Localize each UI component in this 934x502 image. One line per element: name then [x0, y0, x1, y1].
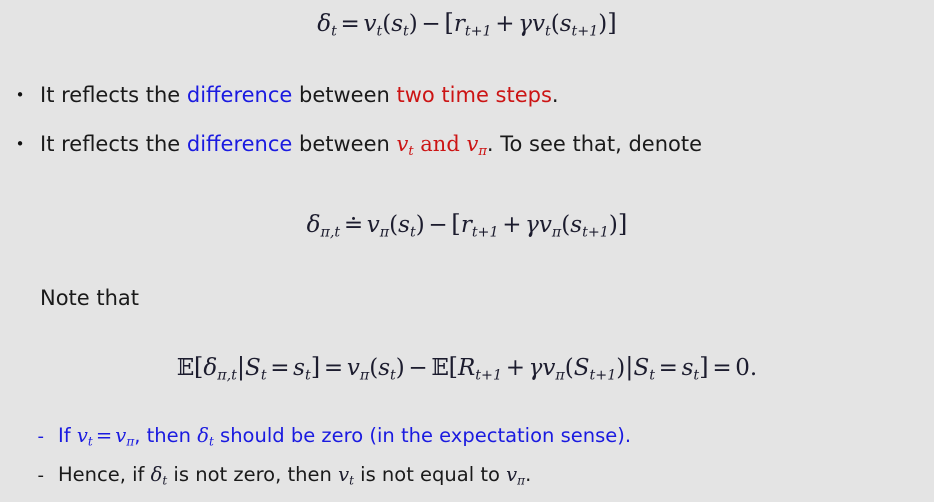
- sub-bullet-2-post: .: [525, 463, 531, 486]
- bullet-marker-icon: •: [0, 88, 40, 103]
- equation-expectation-body: 𝔼[δπ,t|St=st]=vπ(st)−𝔼[Rt+1+γvπ(St+1)|St…: [177, 355, 757, 381]
- bullet-list: • It reflects the difference between two…: [0, 82, 934, 183]
- equation-expectation: 𝔼[δπ,t|St=st]=vπ(st)−𝔼[Rt+1+γvπ(St+1)|St…: [0, 352, 934, 383]
- sub-bullet-1-pre: If: [58, 424, 77, 447]
- sub-bullet-2-text: Hence, if δt is not zero, then vt is not…: [58, 463, 934, 489]
- sub-bullet-list: - If vt=vπ, then δt should be zero (in t…: [0, 424, 934, 502]
- bullet-1-seg-two-time-steps: two time steps: [396, 83, 551, 107]
- bullet-2-seg-4: . To see that, denote: [487, 132, 702, 156]
- bullet-2-text: It reflects the difference between vt an…: [40, 131, 934, 161]
- sub-bullet-2-math-delta: δt: [151, 463, 168, 486]
- equation-td-error: δt=vt(st)−[rt+1+γvt(st+1)]: [0, 8, 934, 39]
- sub-bullet-2-mid2: is not equal to: [354, 463, 506, 486]
- blackboard-E-icon-2: 𝔼: [431, 355, 448, 381]
- sub-bullet-1-mid: , then: [134, 424, 197, 447]
- dash-marker-icon: -: [0, 467, 58, 485]
- sub-bullet-2-mid: is not zero, then: [167, 463, 338, 486]
- sub-bullet-1-post: should be zero (in the expectation sense…: [214, 424, 631, 447]
- bullet-2-seg-2: between: [292, 132, 396, 156]
- sub-bullet-2-math-v-t: vt: [338, 463, 354, 486]
- list-item: - If vt=vπ, then δt should be zero (in t…: [0, 424, 934, 450]
- bullet-1-seg-difference: difference: [187, 83, 292, 107]
- bullet-2-seg-difference: difference: [187, 132, 292, 156]
- bullet-1-seg-2: between: [292, 83, 396, 107]
- sub-bullet-2-pre: Hence, if: [58, 463, 151, 486]
- dash-marker-icon: -: [0, 428, 58, 446]
- eq2-relation-doteq: ≐: [340, 212, 367, 238]
- eq1-relation: =: [337, 11, 364, 37]
- equation-td-error-policy: δπ,t≐vπ(st)−[rt+1+γvπ(st+1)]: [0, 209, 934, 240]
- bullet-1-seg-4: .: [552, 83, 559, 107]
- list-item: - Hence, if δt is not zero, then vt is n…: [0, 463, 934, 489]
- sub-bullet-1-math-delta: δt: [197, 424, 214, 447]
- sub-bullet-2-math-v-pi: vπ: [506, 463, 525, 486]
- note-that-label: Note that: [40, 286, 139, 310]
- eq2-delta-sub: π,t: [321, 224, 341, 240]
- eq1-delta-sub: t: [331, 23, 337, 39]
- slide-canvas: δt=vt(st)−[rt+1+γvt(st+1)] • It reflects…: [0, 0, 934, 496]
- sub-bullet-1-text: If vt=vπ, then δt should be zero (in the…: [58, 424, 934, 450]
- bullet-2-seg-v-t-and-v-pi: vt and vπ: [396, 132, 486, 156]
- equation-td-error-body: δt=vt(st)−[rt+1+γvt(st+1)]: [317, 11, 616, 37]
- bullet-1-seg-0: It reflects the: [40, 83, 187, 107]
- sub-bullet-1-math-condition: vt=vπ: [77, 424, 134, 447]
- blackboard-E-icon: 𝔼: [177, 355, 194, 381]
- list-item: • It reflects the difference between vt …: [0, 131, 934, 161]
- bullet-marker-icon: •: [0, 137, 40, 152]
- equation-td-error-policy-body: δπ,t≐vπ(st)−[rt+1+γvπ(st+1)]: [307, 212, 628, 238]
- bullet-1-text: It reflects the difference between two t…: [40, 82, 934, 109]
- bullet-2-seg-0: It reflects the: [40, 132, 187, 156]
- list-item: • It reflects the difference between two…: [0, 82, 934, 109]
